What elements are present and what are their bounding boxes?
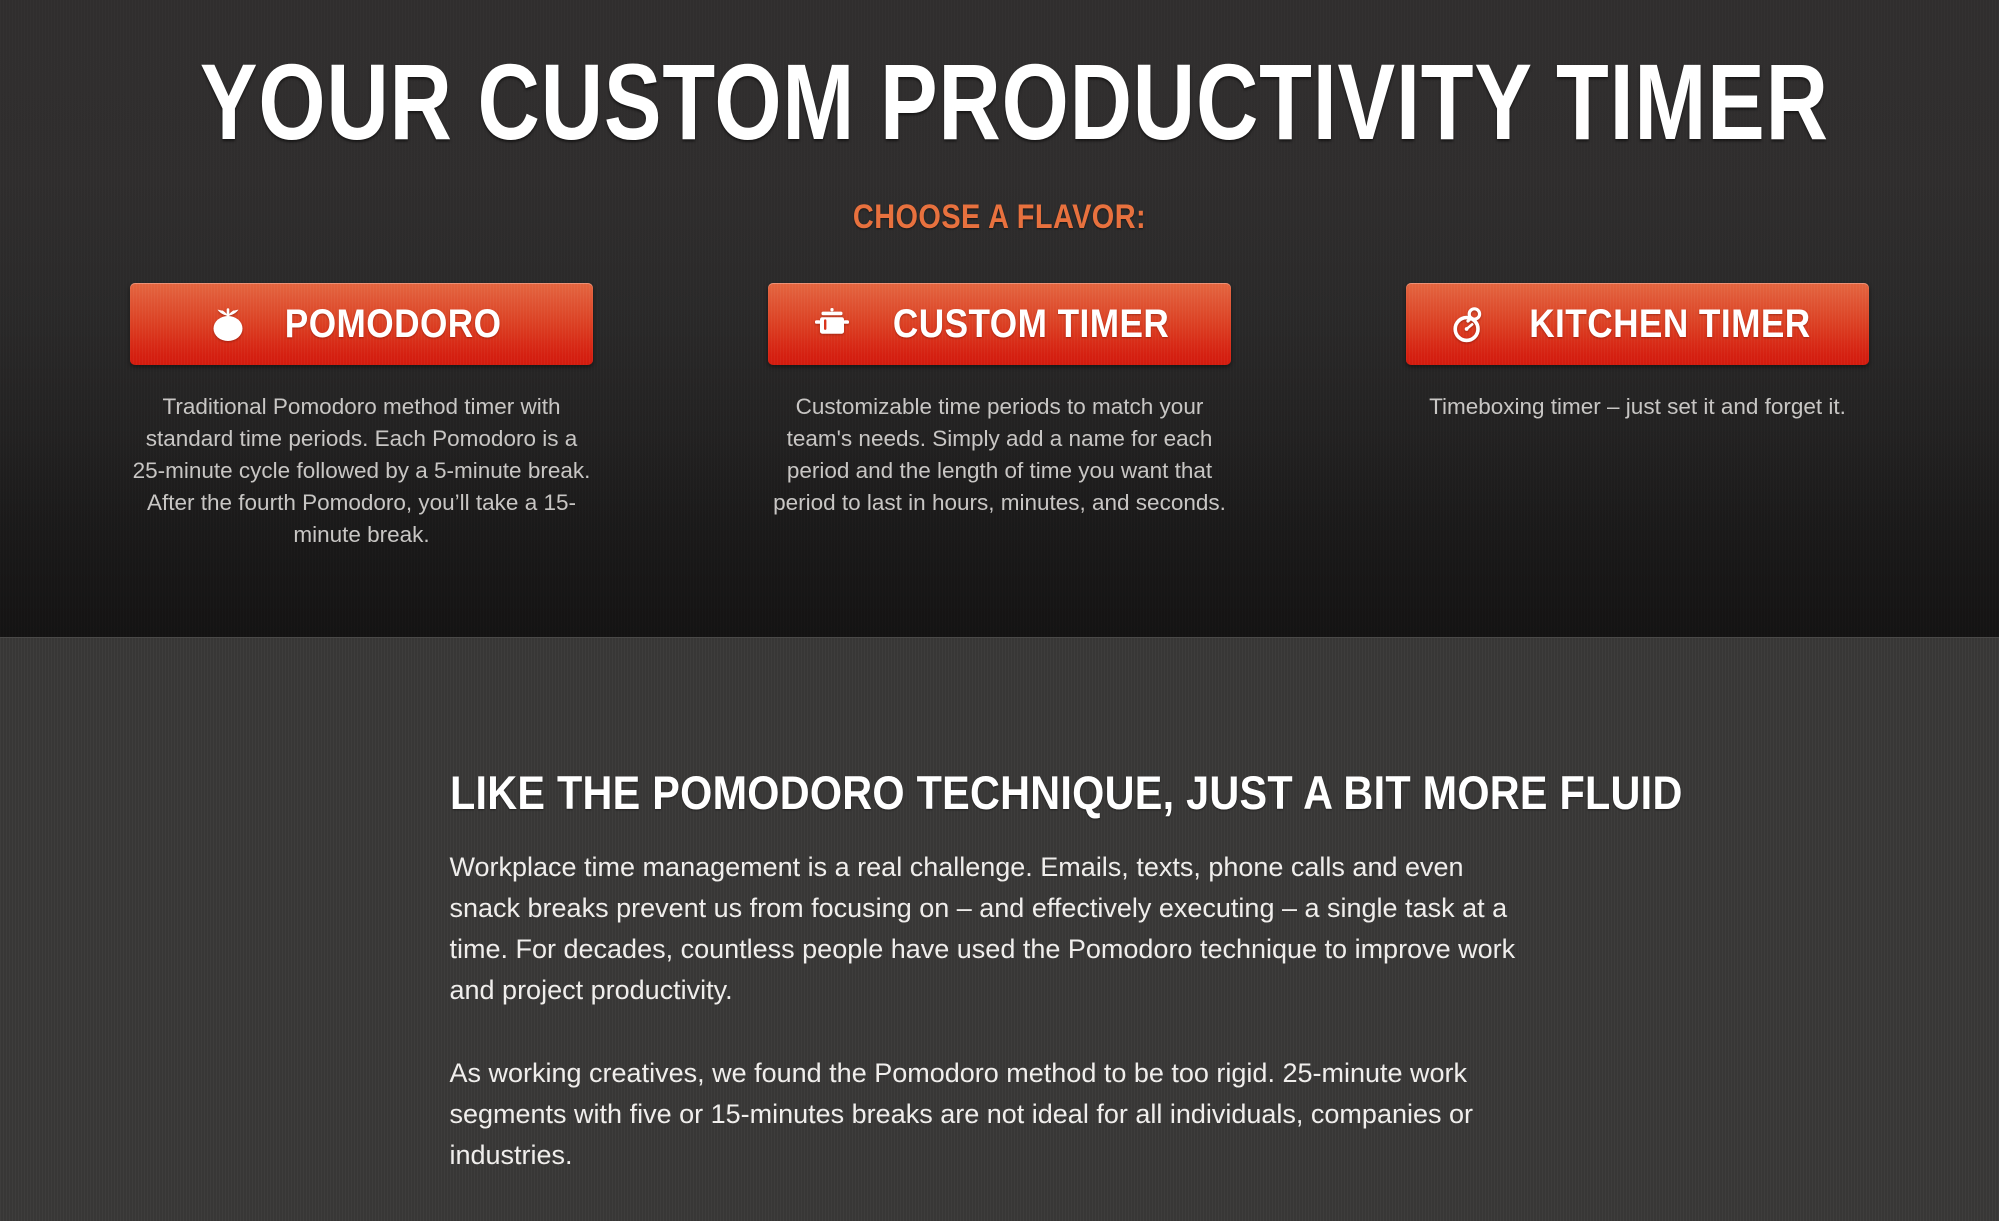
about-content: LIKE THE POMODORO TECHNIQUE, JUST A BIT …: [450, 638, 1550, 1176]
custom-timer-button[interactable]: CUSTOM TIMER: [768, 283, 1231, 365]
hero-section: YOUR CUSTOM PRODUCTIVITY TIMER CHOOSE A …: [0, 0, 1999, 637]
choose-flavor-subtitle: CHOOSE A FLAVOR:: [150, 198, 1849, 237]
pomodoro-button-label: POMODORO: [285, 302, 502, 347]
custom-timer-button-label: CUSTOM TIMER: [893, 302, 1169, 347]
about-paragraph-2: As working creatives, we found the Pomod…: [450, 1053, 1540, 1176]
pomodoro-description: Traditional Pomodoro method timer with s…: [130, 391, 593, 551]
kitchen-timer-button[interactable]: KITCHEN TIMER: [1406, 283, 1869, 365]
flavor-column-pomodoro: POMODORO Traditional Pomodoro method tim…: [130, 283, 593, 551]
pomodoro-button[interactable]: POMODORO: [130, 283, 593, 365]
kitchen-timer-button-label: KITCHEN TIMER: [1529, 302, 1810, 347]
flavor-column-custom-timer: CUSTOM TIMER Customizable time periods t…: [768, 283, 1231, 551]
stopwatch-icon: [1446, 302, 1490, 346]
about-section: LIKE THE POMODORO TECHNIQUE, JUST A BIT …: [0, 637, 1999, 1221]
about-heading: LIKE THE POMODORO TECHNIQUE, JUST A BIT …: [450, 768, 1418, 817]
tomato-icon: [206, 302, 250, 346]
about-paragraph-1: Workplace time management is a real chal…: [450, 847, 1540, 1011]
flavor-options: POMODORO Traditional Pomodoro method tim…: [0, 283, 1999, 551]
flavor-column-kitchen-timer: KITCHEN TIMER Timeboxing timer – just se…: [1406, 283, 1869, 551]
kitchen-timer-description: Timeboxing timer – just set it and forge…: [1406, 391, 1869, 423]
page-title: YOUR CUSTOM PRODUCTIVITY TIMER: [200, 0, 1799, 156]
cooking-pot-icon: [810, 302, 854, 346]
custom-timer-description: Customizable time periods to match your …: [768, 391, 1231, 519]
